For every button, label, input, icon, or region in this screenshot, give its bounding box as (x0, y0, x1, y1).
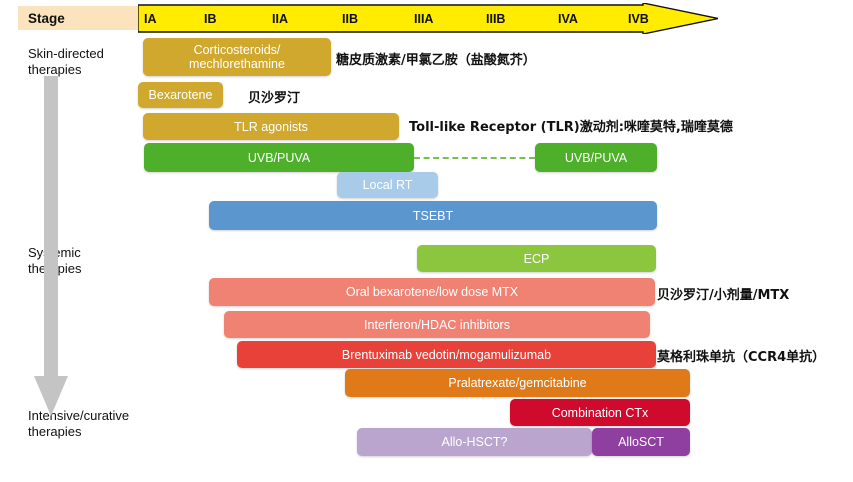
section-label-skin-directed: Skin-directed therapies (28, 46, 104, 79)
therapy-bar-bexarotene: Bexarotene (138, 82, 223, 108)
anno-corticosteroids: 糖皮质激素/甲氯乙胺（盐酸氮芥） (336, 49, 536, 68)
stage-tick-ivb: IVB (628, 3, 649, 34)
therapy-bar-brentuximab: Brentuximab vedotin/mogamulizumab (237, 341, 656, 368)
therapy-bar-uvb-puva-late: UVB/PUVA (535, 143, 657, 172)
therapy-bar-tlr-agonists: TLR agonists (143, 113, 399, 140)
anno-oral-bexarotene: 贝沙罗汀/小剂量/MTX (657, 284, 789, 303)
stage-tick-iib: IIB (342, 3, 358, 34)
treatment-staging-diagram: Stage IAIBIIAIIBIIIAIIIBIVAIVB Skin-dire… (0, 0, 853, 482)
therapy-bar-corticosteroids: Corticosteroids/ mechlorethamine (143, 38, 331, 76)
stage-label-cell: Stage (18, 6, 140, 30)
anno-brentuximab: 莫格利珠单抗（CCR4单抗） (657, 346, 825, 365)
stage-tick-iva: IVA (558, 3, 578, 34)
stage-tick-ib: IB (204, 3, 217, 34)
therapy-bar-interferon-hdac: Interferon/HDAC inhibitors (224, 311, 650, 338)
stage-tick-iiib: IIIB (486, 3, 505, 34)
therapy-bar-tsebt: TSEBT (209, 201, 657, 230)
therapy-bar-allo-hsct: Allo-HSCT? (357, 428, 592, 456)
anno-bexarotene: 贝沙罗汀 (248, 87, 300, 106)
intensity-progression-arrow-icon (34, 76, 68, 416)
stage-tick-iia: IIA (272, 3, 288, 34)
therapy-bar-combination-ctx: Combination CTx (510, 399, 690, 426)
therapy-bar-pralatrexate: Pralatrexate/gemcitabine (345, 369, 690, 397)
therapy-bar-oral-bexarotene: Oral bexarotene/low dose MTX (209, 278, 655, 306)
therapy-bar-allosct: AlloSCT (592, 428, 690, 456)
therapy-bar-uvb-puva-early: UVB/PUVA (144, 143, 414, 172)
uvb-dashed-link (414, 157, 535, 159)
therapy-bar-local-rt: Local RT (337, 172, 438, 198)
stage-tick-ia: IA (144, 3, 157, 34)
stage-tick-group: IAIBIIAIIBIIIAIIIBIVAIVB (138, 3, 718, 34)
anno-tlr: Toll-like Receptor (TLR)激动剂:咪喹莫特,瑞喹莫德 (409, 116, 733, 135)
therapy-bar-ecp: ECP (417, 245, 656, 272)
stage-tick-iiia: IIIA (414, 3, 433, 34)
stage-label-text: Stage (28, 11, 65, 26)
